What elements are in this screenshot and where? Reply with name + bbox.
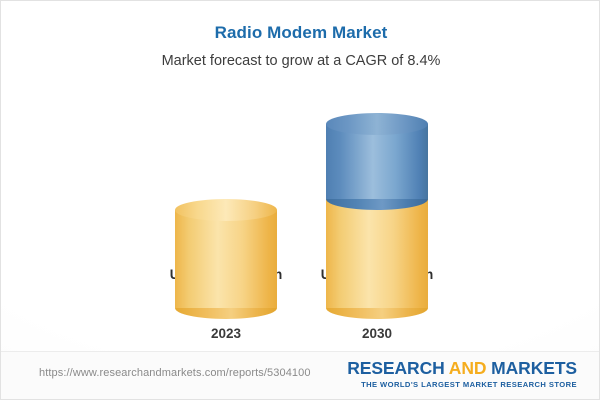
cylinder-body — [326, 199, 428, 308]
category-label-2023: 2023 — [146, 326, 306, 341]
logo-wordmark: RESEARCH AND MARKETS — [347, 359, 577, 378]
cylinder-top-cap — [326, 113, 428, 135]
cylinder-2030 — [326, 124, 428, 308]
logo-word-and: AND — [449, 358, 487, 378]
logo-word-markets: MARKETS — [491, 358, 577, 378]
footer: https://www.researchandmarkets.com/repor… — [1, 351, 599, 399]
cylinder-body — [175, 210, 277, 308]
cylinder-2023 — [175, 199, 277, 308]
category-label-2030: 2030 — [297, 326, 457, 341]
cylinder-top-cap — [175, 199, 277, 221]
cylinder-segment-base — [175, 199, 277, 308]
logo-word-research: RESEARCH — [347, 358, 444, 378]
infographic-chart: Radio Modem Market Market forecast to gr… — [0, 0, 600, 400]
logo-tagline: THE WORLD'S LARGEST MARKET RESEARCH STOR… — [347, 379, 577, 390]
cylinder-body — [326, 124, 428, 199]
cylinder-segment-growth — [326, 113, 428, 199]
brand-logo[interactable]: RESEARCH AND MARKETS THE WORLD'S LARGEST… — [347, 359, 577, 390]
source-url-link[interactable]: https://www.researchandmarkets.com/repor… — [39, 367, 311, 379]
plot-area: USD 237.3 Million 2023 USD 418.1 Million — [1, 1, 600, 353]
cylinder-segment-base — [326, 199, 428, 308]
